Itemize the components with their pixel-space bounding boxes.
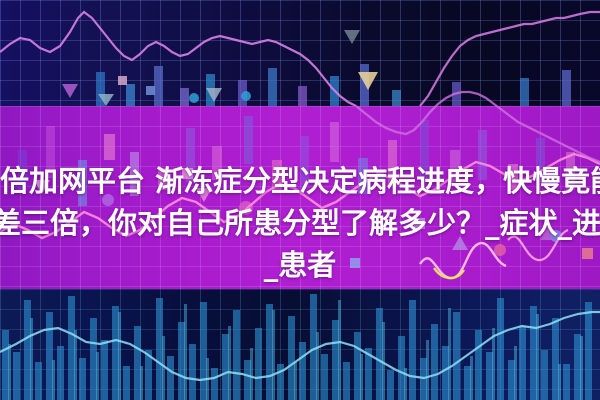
headline-line-3: _患者: [0, 244, 600, 286]
headline-text: 倍加网平台 渐冻症分型决定病程进度，快慢竟能相 差三倍，你对自己所患分型了解多少…: [0, 160, 600, 286]
headline-line-1: 倍加网平台 渐冻症分型决定病程进度，快慢竟能相: [0, 160, 600, 202]
top-trend-line-right: [420, 12, 600, 106]
promo-banner: 倍加网平台 渐冻症分型决定病程进度，快慢竟能相 差三倍，你对自己所患分型了解多少…: [0, 0, 600, 400]
volume-bar-group: [0, 294, 600, 400]
top-zone-graphics: [0, 12, 600, 106]
headline-line-2: 差三倍，你对自己所患分型了解多少？_症状_进展_患者: [0, 202, 600, 244]
